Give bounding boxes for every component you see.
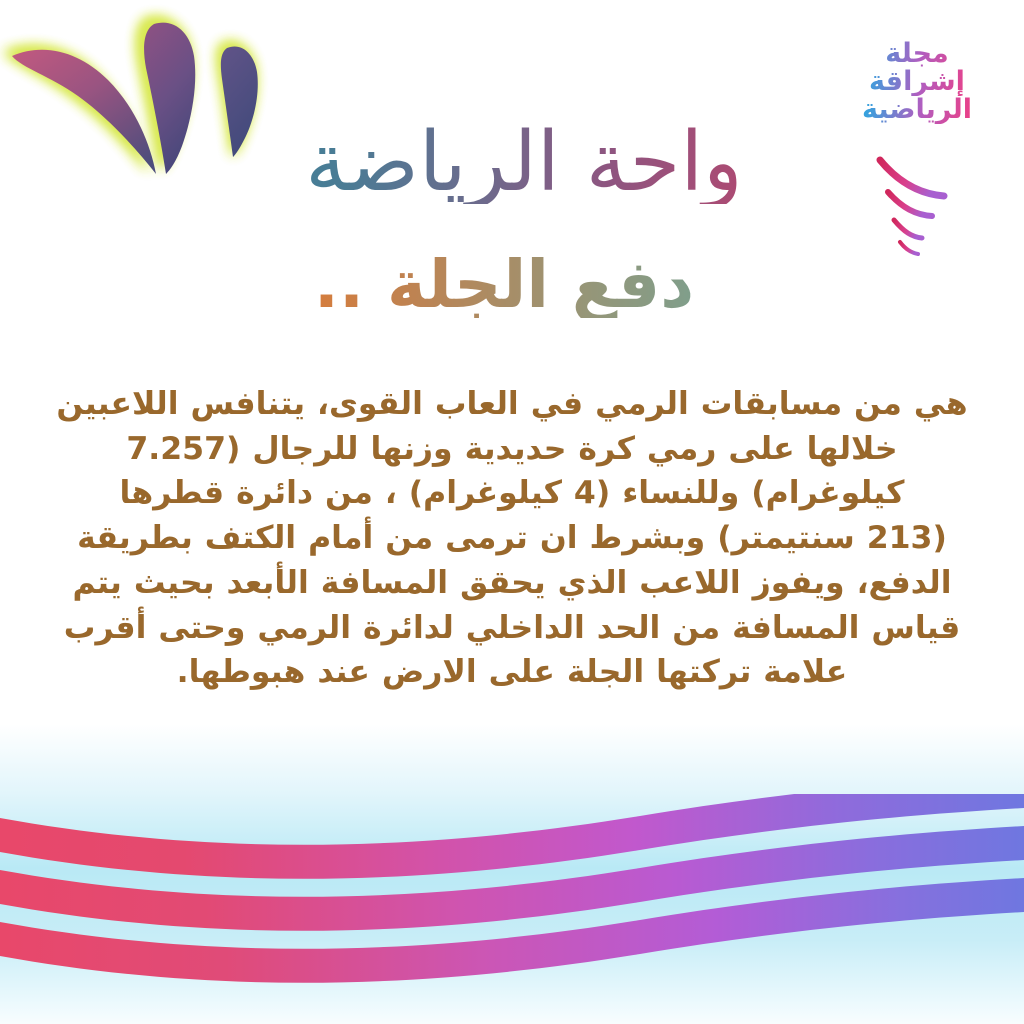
article-line: الدفع، ويفوز اللاعب الذي يحقق المسافة ال… bbox=[26, 561, 998, 606]
article-line: علامة تركتها الجلة على الارض عند هبوطها. bbox=[26, 650, 998, 695]
magazine-logo-line-3: الرياضية bbox=[832, 96, 1002, 124]
magazine-logo-line-2: إشراقة bbox=[832, 68, 1002, 96]
article-body: هي من مسابقات الرمي في العاب القوى، يتنا… bbox=[26, 382, 998, 695]
poster-canvas: مجلة إشراقة الرياضية واحة الرياضة دفع ال… bbox=[0, 0, 1024, 1024]
page-title: واحة الرياضة bbox=[174, 122, 874, 204]
swoosh-arcs-icon bbox=[858, 152, 978, 260]
article-line: قياس المسافة من الحد الداخلي لدائرة الرم… bbox=[26, 606, 998, 651]
magazine-logo-line-1: مجلة bbox=[832, 40, 1002, 68]
page-subtitle: دفع الجلة .. bbox=[194, 252, 814, 318]
article-line: (213 سنتيمتر) وبشرط ان ترمى من أمام الكت… bbox=[26, 516, 998, 561]
wave-bands-icon bbox=[0, 794, 1024, 1024]
magazine-logo: مجلة إشراقة الرياضية bbox=[832, 40, 1002, 124]
article-line: كيلوغرام) وللنساء (4 كيلوغرام) ، من دائر… bbox=[26, 471, 998, 516]
article-line: خلالها على رمي كرة حديدية وزنها للرجال (… bbox=[26, 427, 998, 472]
article-line: هي من مسابقات الرمي في العاب القوى، يتنا… bbox=[26, 382, 998, 427]
